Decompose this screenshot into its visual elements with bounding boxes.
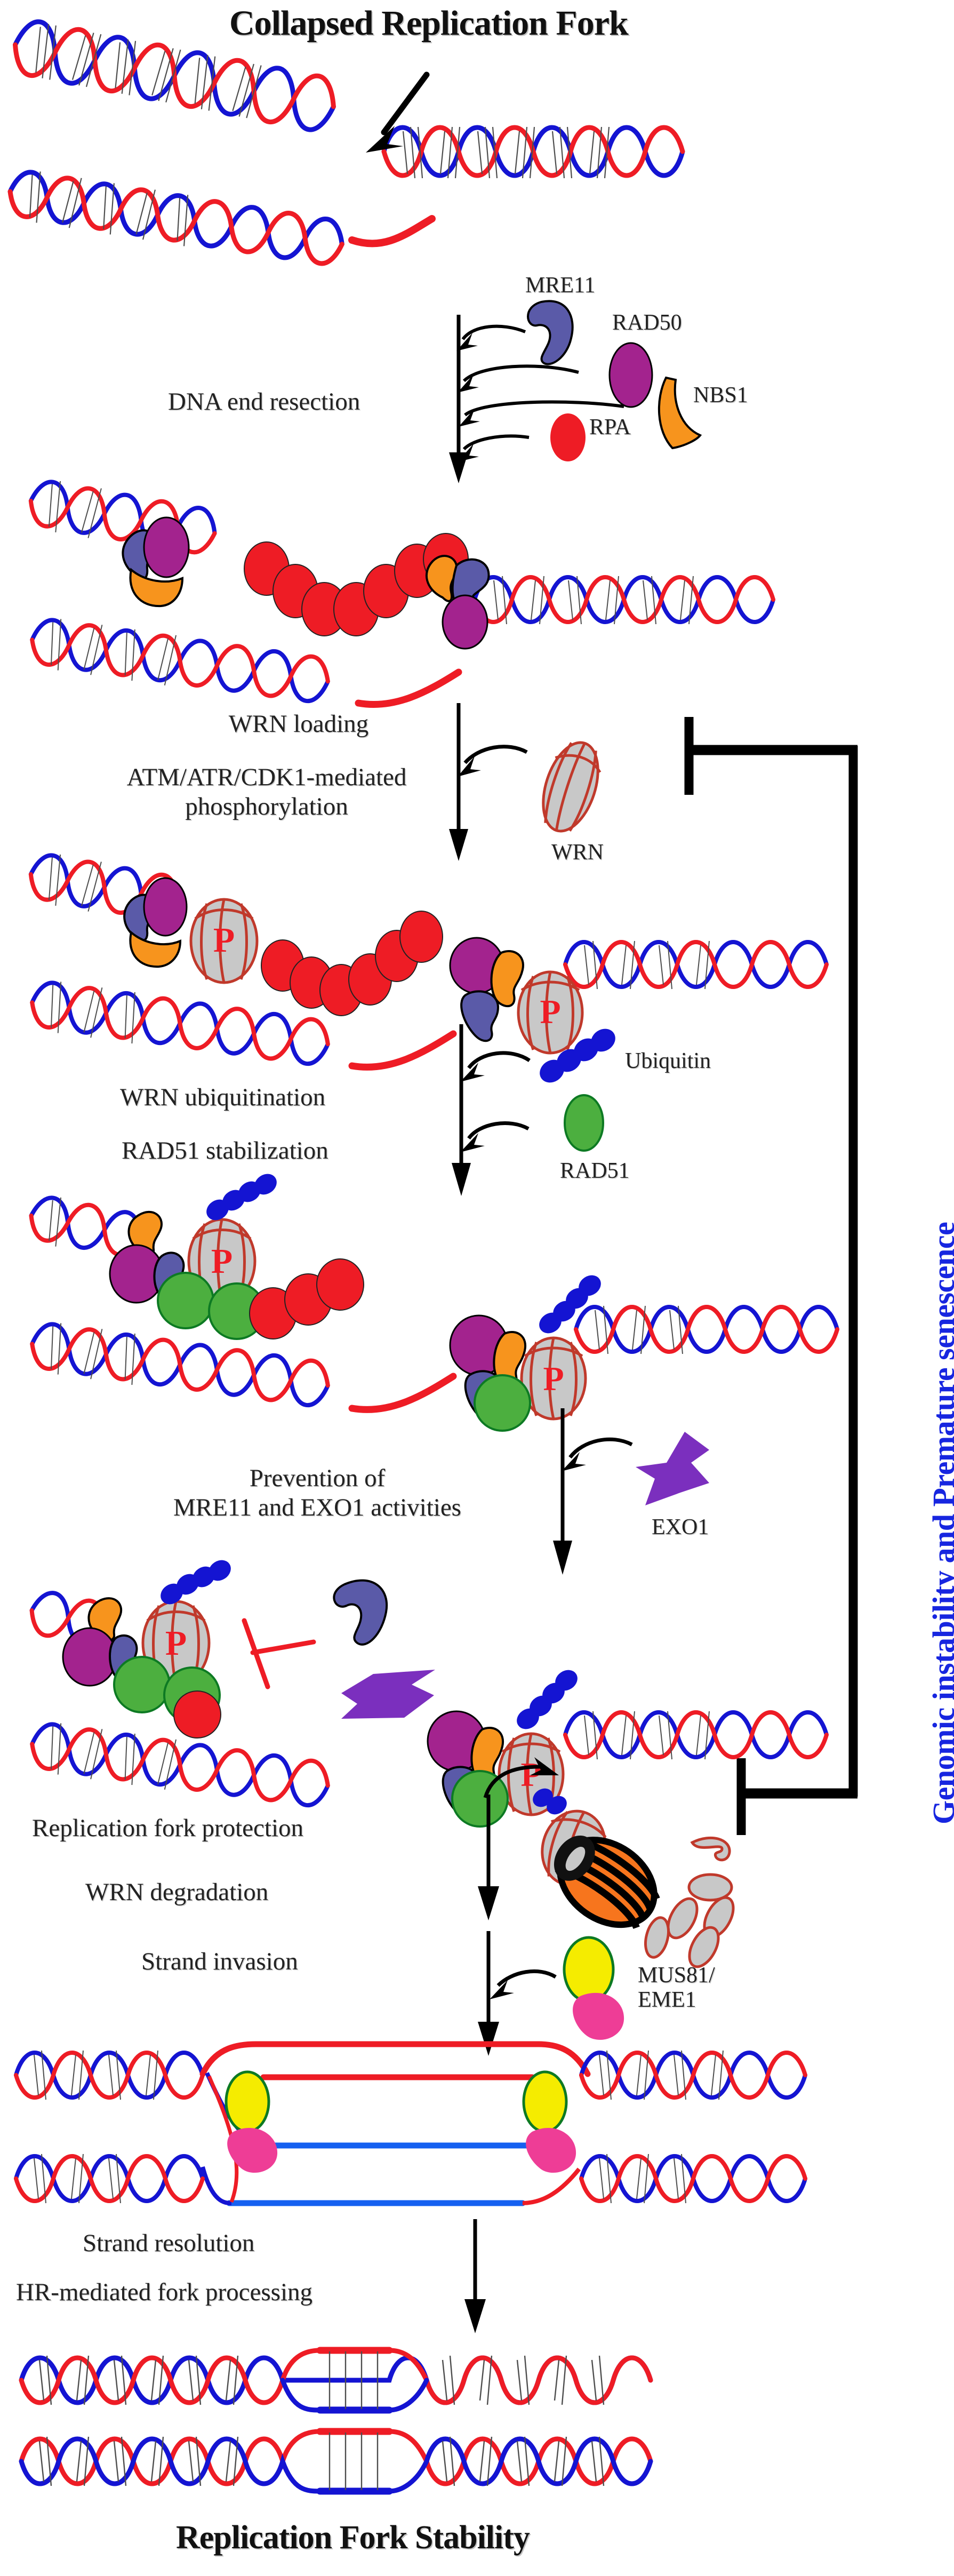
protein-ubiquitin-icon [536, 1030, 621, 1088]
figure-canvas: Collapsed Replication Fork [0, 0, 954, 2576]
step-line: WRN ubiquitination [120, 1083, 325, 1112]
resolvase-left [226, 2072, 277, 2173]
step-line: WRN degradation [85, 1878, 268, 1907]
free-mre11-icon [334, 1581, 387, 1645]
phospho-mark: P [213, 921, 235, 960]
step-line: phosphorylation [96, 792, 437, 822]
ubiquitin-chain-left [203, 1170, 281, 1224]
dna-holliday-junction [16, 2043, 848, 2235]
step-label-wrn-degradation: WRN degradation [85, 1878, 268, 1907]
inhibition-symbol-red [244, 1621, 314, 1687]
protein-label-mus81-eme1: MUS81/ EME1 [638, 1963, 715, 2012]
protein-mus81-eme1-icon [549, 1931, 645, 2043]
dna-collapsed-fork-lower [11, 155, 768, 293]
ubiquitin-chain-protected-left [157, 1556, 235, 1608]
step-line: Strand invasion [141, 1947, 298, 1976]
protein-label-line: EME1 [638, 1988, 715, 2012]
step-label-resection: DNA end resection [168, 387, 360, 417]
protein-label-line: MUS81/ [638, 1963, 715, 1988]
step-line: MRE11 and EXO1 activities [64, 1493, 571, 1522]
resolution-arrow [451, 2219, 515, 2336]
step-line: ATM/ATR/CDK1-mediated [96, 763, 437, 792]
step-label-ubiquitination: WRN ubiquitination [120, 1083, 325, 1112]
dna-resolved-lower [21, 2413, 832, 2515]
protein-label-nbs1: NBS1 [693, 383, 748, 408]
step-line: RAD51 stabilization [122, 1136, 328, 1166]
step-line: Replication fork protection [32, 1814, 303, 1843]
step-label-phospho: ATM/ATR/CDK1-mediated phosphorylation [96, 763, 437, 822]
phospho-mark: P [211, 1242, 233, 1281]
protein-label-rad50: RAD50 [612, 310, 682, 335]
step-label-fork-protection: Replication fork protection [32, 1814, 303, 1843]
protein-mre11-icon [525, 298, 579, 368]
protein-label-exo1: EXO1 [652, 1515, 709, 1540]
protein-wrn-icon [533, 736, 608, 838]
step-line: DNA end resection [168, 387, 360, 417]
protein-exo1-icon [629, 1430, 715, 1510]
step-line: Prevention of [64, 1464, 571, 1493]
step-line: HR-mediated fork processing [16, 2278, 312, 2307]
protein-label-mre11: MRE11 [525, 273, 595, 298]
page-footer-title: Replication Fork Stability [176, 2519, 530, 2557]
step-label-rad51-stab: RAD51 stabilization [122, 1136, 328, 1166]
step-label-strand-resolution: Strand resolution [83, 2229, 254, 2258]
step-label-hr-processing: HR-mediated fork processing [16, 2278, 312, 2307]
step-label-strand-invasion: Strand invasion [141, 1947, 298, 1976]
protein-rad51-icon [557, 1091, 611, 1155]
protein-rpa-icon [544, 411, 592, 464]
resolvase-right [524, 2072, 576, 2173]
step-line: WRN loading [160, 709, 437, 739]
protein-label-ubiquitin: Ubiquitin [625, 1049, 711, 1073]
step-label-wrn-loading: WRN loading [160, 709, 437, 739]
step-label-prevention: Prevention of MRE11 and EXO1 activities [64, 1464, 571, 1523]
protein-label-rpa: RPA [589, 415, 631, 440]
side-outcome-label: Genomic instability and Premature senesc… [926, 1222, 954, 1824]
phospho-mark: P [165, 1624, 187, 1663]
step-line: Strand resolution [83, 2229, 254, 2258]
